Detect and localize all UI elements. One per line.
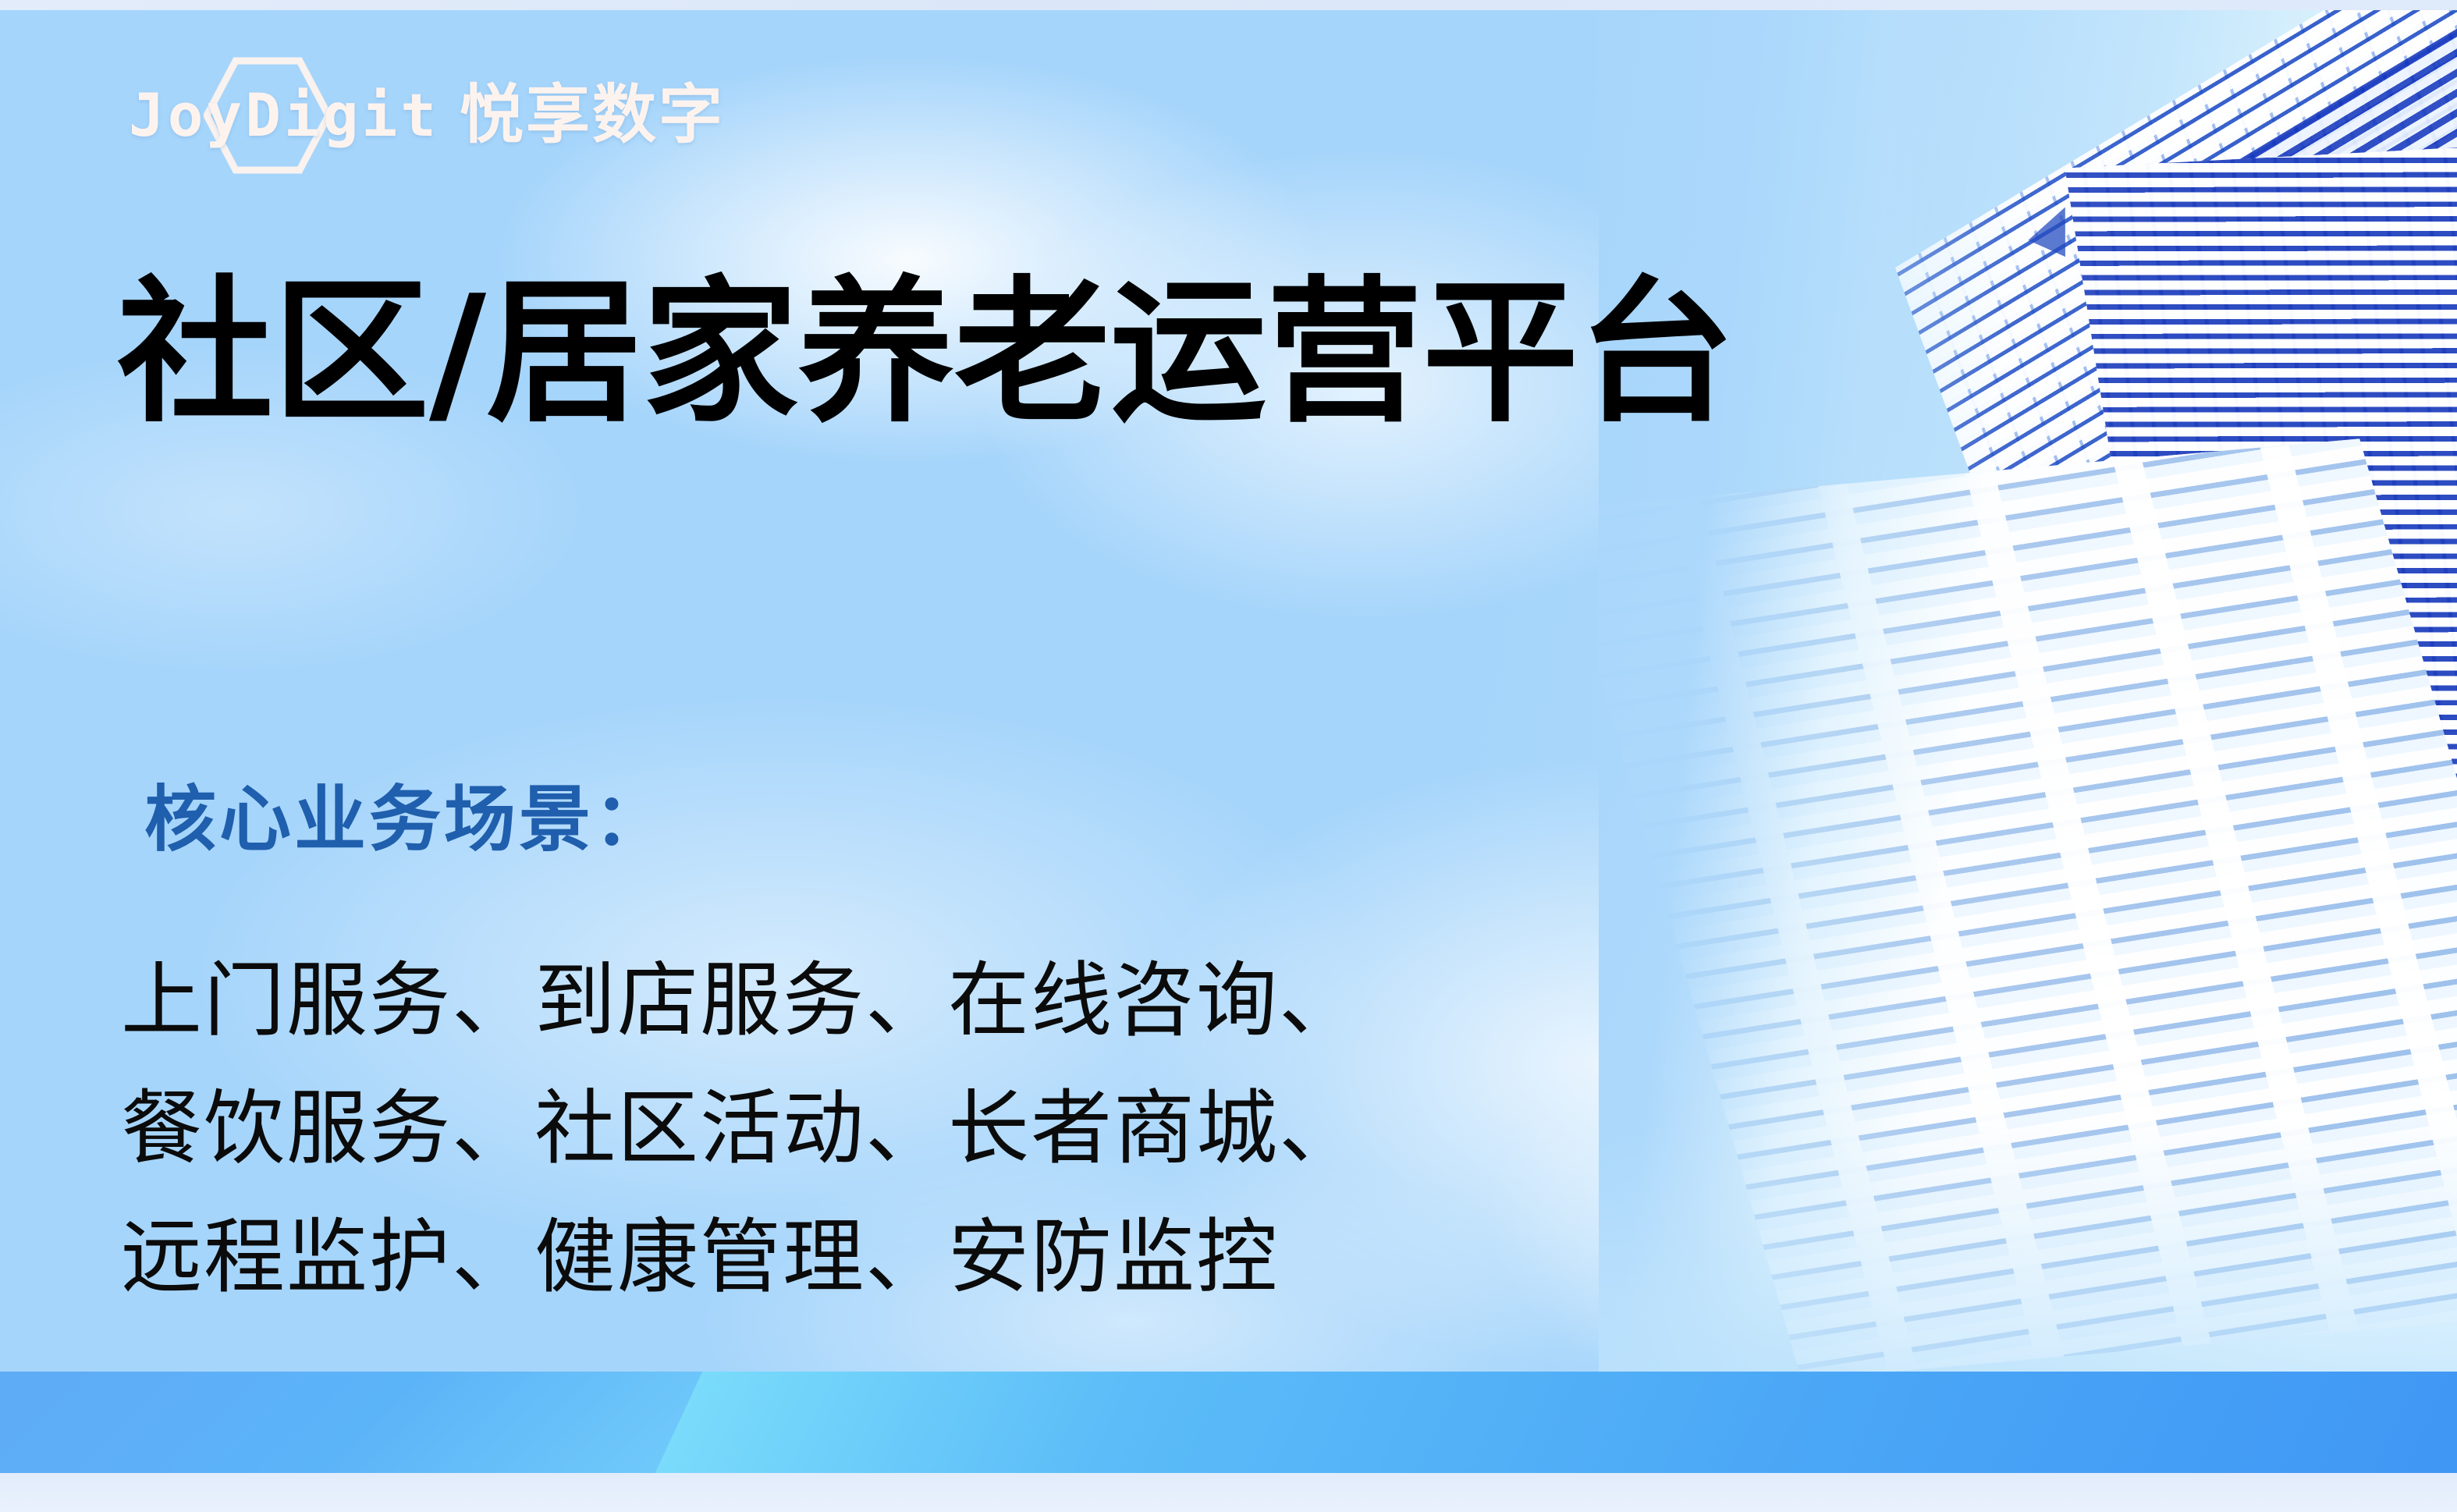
brand-chinese-name: 悦享数字 bbox=[460, 83, 725, 147]
slide-canvas: JoyDigit 悦享数字 社区/居家养老运营平台 核心业务场景： 上门服务、到… bbox=[0, 0, 2457, 1512]
top-edge-strip bbox=[0, 0, 2457, 10]
bottom-decor-band bbox=[0, 1372, 2457, 1512]
section-heading: 核心业务场景： bbox=[144, 780, 669, 859]
band-shape-right bbox=[655, 1372, 2457, 1473]
band-baseline bbox=[0, 1473, 2457, 1512]
brand-latin-name: JoyDigit bbox=[129, 86, 439, 145]
skyscraper-photo bbox=[1599, 10, 2457, 1399]
scenario-line: 上门服务、到店服务、在线咨询、 bbox=[121, 936, 1362, 1064]
scenario-line: 餐饮服务、社区活动、长者商城、 bbox=[121, 1064, 1362, 1192]
page-title: 社区/居家养老运营平台 bbox=[117, 269, 1734, 438]
scenario-list: 上门服务、到店服务、在线咨询、 餐饮服务、社区活动、长者商城、 远程监护、健康管… bbox=[121, 936, 1362, 1321]
brand-logo: JoyDigit 悦享数字 bbox=[129, 67, 725, 164]
scenario-line: 远程监护、健康管理、安防监控 bbox=[121, 1193, 1362, 1321]
building-mullions bbox=[1599, 438, 2457, 1379]
